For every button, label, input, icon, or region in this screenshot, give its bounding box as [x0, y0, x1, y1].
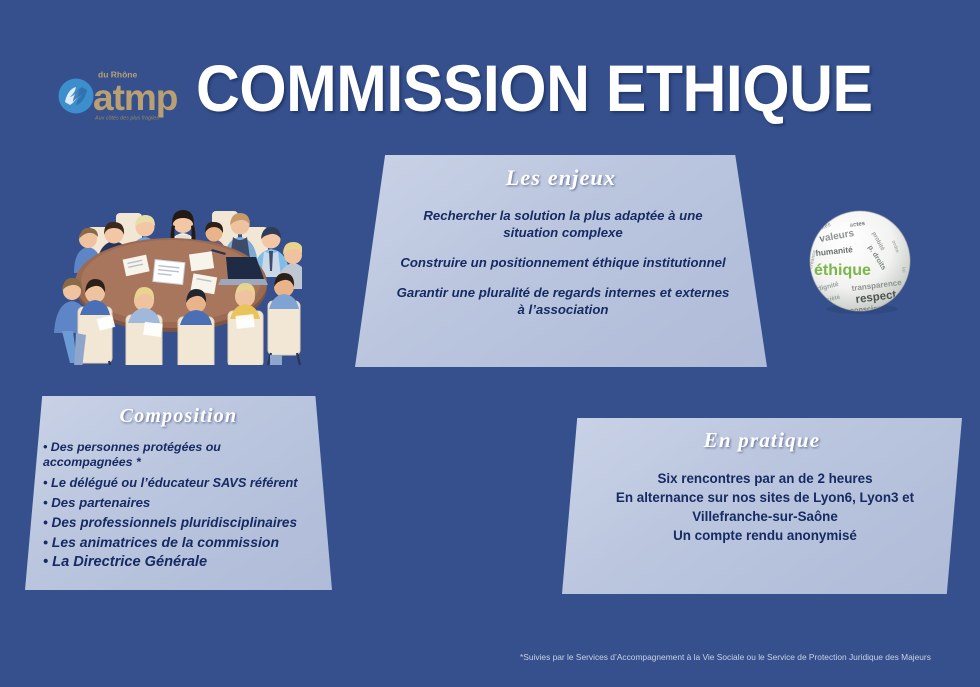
enjeux-line-2: Construire un positionnement éthique ins…	[395, 254, 731, 271]
panel-pratique-heading: En pratique	[562, 418, 962, 453]
poster-header: du Rhône atmp Aux côtés des plus fragile…	[0, 0, 980, 145]
pratique-line-2: En alternance sur nos sites de Lyon6, Ly…	[598, 488, 932, 526]
footnote: *Suivies par le Services d’Accompagnemen…	[520, 651, 970, 663]
atmp-logo: du Rhône atmp Aux côtés des plus fragile…	[57, 66, 187, 124]
panel-en-pratique: En pratique Six rencontres par an de 2 h…	[562, 418, 962, 594]
poster-canvas: du Rhône atmp Aux côtés des plus fragile…	[0, 0, 980, 687]
list-item: • Des professionnels pluridisciplinaires	[43, 515, 318, 530]
panel-les-enjeux: Les enjeux Rechercher la solution la plu…	[355, 155, 767, 367]
panel-enjeux-body: Rechercher la solution la plus adaptée à…	[355, 191, 767, 318]
logo-tagline-text: Aux côtés des plus fragiles	[94, 116, 159, 122]
list-item: • La Directrice Générale	[43, 555, 318, 570]
word-ethique: éthique	[814, 262, 871, 279]
list-item: • Des partenaires	[43, 495, 318, 510]
panel-enjeux-heading: Les enjeux	[355, 155, 767, 191]
enjeux-line-1: Rechercher la solution la plus adaptée à…	[395, 207, 731, 241]
logo-brand-text: atmp	[93, 77, 178, 118]
pratique-line-1: Six rencontres par an de 2 heures	[598, 469, 932, 488]
list-item: • Les animatrices de la commission	[43, 535, 318, 550]
panel-composition-body: • Des personnes protégées ou accompagnée…	[25, 428, 332, 570]
page-title: COMMISSION ETHIQUE	[196, 52, 803, 124]
meeting-illustration	[40, 165, 302, 365]
panel-composition: Composition • Des personnes protégées ou…	[25, 396, 332, 590]
panel-pratique-body: Six rencontres par an de 2 heures En alt…	[562, 453, 962, 545]
enjeux-line-3: Garantir une pluralité de regards intern…	[395, 284, 731, 318]
ethics-word-cloud-sphere: actes actes probité valeurs p. droits or…	[806, 209, 914, 315]
atmp-logo-mark: du Rhône atmp Aux côtés des plus fragile…	[57, 66, 187, 124]
list-item: • Des personnes protégées ou accompagnée…	[43, 440, 318, 470]
hands-circle-icon	[59, 79, 94, 114]
list-item: • Le délégué ou l’éducateur SAVS référen…	[43, 475, 318, 490]
panel-composition-heading: Composition	[25, 396, 332, 428]
pratique-line-3: Un compte rendu anonymisé	[598, 526, 932, 545]
